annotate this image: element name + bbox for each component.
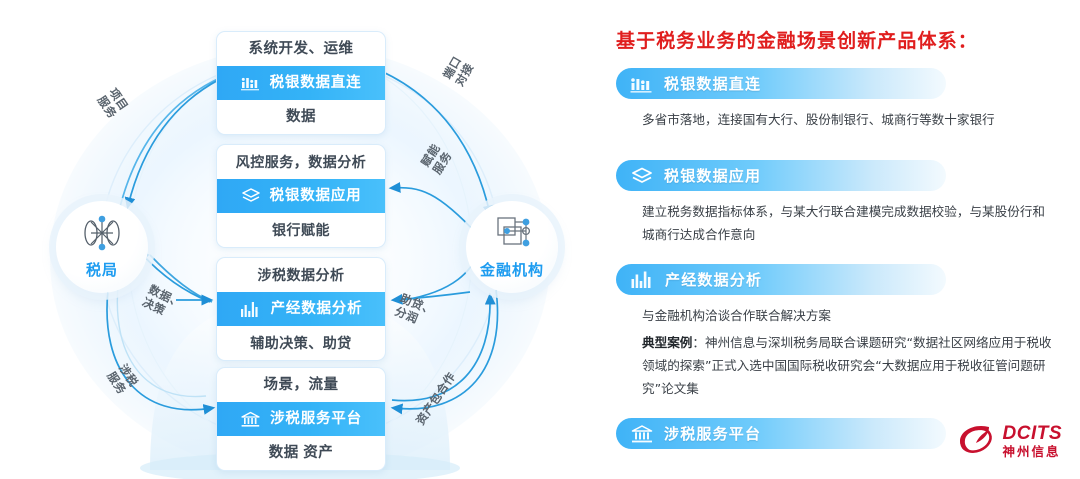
section-header-pill[interactable]: 税银数据应用 xyxy=(616,160,946,191)
bar-chart-icon xyxy=(241,75,261,91)
section-header-pill[interactable]: 产经数据分析 xyxy=(616,264,946,295)
bar-chart-icon xyxy=(630,75,654,93)
card-top-text: 涉税数据分析 xyxy=(217,258,385,292)
dcits-swirl-icon xyxy=(956,422,996,461)
bar-chart-tall-icon xyxy=(240,301,262,318)
case-text: ：神州信息与深圳税务局联合课题研究“数据社区网络应用于税收领域的探索”正式入选中… xyxy=(642,335,1052,396)
dcits-logo: DCITS 神州信息 xyxy=(956,422,1063,461)
section-body: 多省市落地，连接国有大行、股份制银行、城商行等数十家银行 xyxy=(642,108,1052,131)
bank-building-icon xyxy=(240,411,261,428)
card-highlight-label: 产经数据分析 xyxy=(271,292,363,326)
section-paragraph: 建立税务数据指标体系，与某大行联合建模完成数据校验，与某股份行和城商行达成合作意… xyxy=(642,204,1045,242)
section-header-pill[interactable]: 涉税服务平台 xyxy=(616,418,946,449)
card-tax-related-service-platform[interactable]: 场景，流量 涉税服务平台 数据 资产 xyxy=(216,367,386,471)
card-highlight-row[interactable]: 税银数据直连 xyxy=(217,66,385,100)
card-top-text: 风控服务，数据分析 xyxy=(217,145,385,179)
case-lead-label: 典型案例 xyxy=(642,335,692,350)
slide-root: 税局 金融机构 系统开发、运维 xyxy=(0,0,1080,479)
bar-chart-tall-icon xyxy=(630,270,655,289)
card-highlight-row[interactable]: 涉税服务平台 xyxy=(217,402,385,436)
section-header-pill[interactable]: 税银数据直连 xyxy=(616,68,946,99)
section-body: 与金融机构洽谈合作联合解决方案 典型案例：神州信息与深圳税务局联合课题研究“数据… xyxy=(642,304,1052,400)
card-tax-bank-data-direct[interactable]: 系统开发、运维 税银数据直连 数据 xyxy=(216,31,386,135)
card-highlight-label: 税银数据应用 xyxy=(270,179,362,213)
logo-cn-text: 神州信息 xyxy=(1003,446,1063,459)
financial-institution-icon xyxy=(490,214,534,257)
card-bottom-text: 银行赋能 xyxy=(217,213,385,247)
section-header-label: 产经数据分析 xyxy=(665,269,762,290)
card-highlight-row[interactable]: 税银数据应用 xyxy=(217,179,385,213)
card-highlight-label: 涉税服务平台 xyxy=(270,402,362,436)
card-top-text: 场景，流量 xyxy=(217,368,385,402)
layers-icon xyxy=(241,187,261,205)
card-bottom-text: 数据 xyxy=(217,100,385,134)
card-tax-bank-data-application[interactable]: 风控服务，数据分析 税银数据应用 银行赋能 xyxy=(216,144,386,248)
section-paragraph: 与金融机构洽谈合作联合解决方案 xyxy=(642,304,1052,327)
section-paragraph-case: 典型案例：神州信息与深圳税务局联合课题研究“数据社区网络应用于税收领域的探索”正… xyxy=(642,331,1052,400)
node-tax-bureau-label: 税局 xyxy=(86,259,118,280)
card-industry-economy-data-analysis[interactable]: 涉税数据分析 产经数据分析 辅助决策、助贷 xyxy=(216,257,386,361)
product-system-panel: 基于税务业务的金融场景创新产品体系： 税银数据直连 xyxy=(600,0,1080,479)
node-financial-institution-label: 金融机构 xyxy=(480,259,544,280)
node-financial-institution[interactable]: 金融机构 xyxy=(466,201,558,293)
logo-en-text: DCITS xyxy=(1003,424,1063,443)
section-header-label: 涉税服务平台 xyxy=(664,423,761,444)
node-tax-bureau[interactable]: 税局 xyxy=(56,201,148,293)
card-top-text: 系统开发、运维 xyxy=(217,32,385,66)
card-highlight-label: 税银数据直连 xyxy=(270,66,362,100)
section-header-label: 税银数据应用 xyxy=(664,165,761,186)
section-tax-bank-data-direct: 税银数据直连 多省市落地，连接国有大行、股份制银行、城商行等数十家银行 xyxy=(616,68,1068,131)
cycle-diagram: 税局 金融机构 系统开发、运维 xyxy=(0,0,600,479)
card-bottom-text: 数据 资产 xyxy=(217,436,385,470)
tax-bureau-icon xyxy=(80,214,124,257)
layers-icon xyxy=(630,166,654,186)
section-header-label: 税银数据直连 xyxy=(664,73,761,94)
section-industry-economy-data-analysis: 产经数据分析 与金融机构洽谈合作联合解决方案 典型案例：神州信息与深圳税务局联合… xyxy=(616,264,1068,400)
section-paragraph: 多省市落地，连接国有大行、股份制银行、城商行等数十家银行 xyxy=(642,112,995,127)
section-body: 建立税务数据指标体系，与某大行联合建模完成数据校验，与某股份行和城商行达成合作意… xyxy=(642,200,1052,246)
panel-title: 基于税务业务的金融场景创新产品体系： xyxy=(616,26,978,53)
section-tax-bank-data-application: 税银数据应用 建立税务数据指标体系，与某大行联合建模完成数据校验，与某股份行和城… xyxy=(616,160,1068,246)
card-highlight-row[interactable]: 产经数据分析 xyxy=(217,292,385,326)
card-bottom-text: 辅助决策、助贷 xyxy=(217,326,385,360)
bank-building-icon xyxy=(630,424,654,444)
